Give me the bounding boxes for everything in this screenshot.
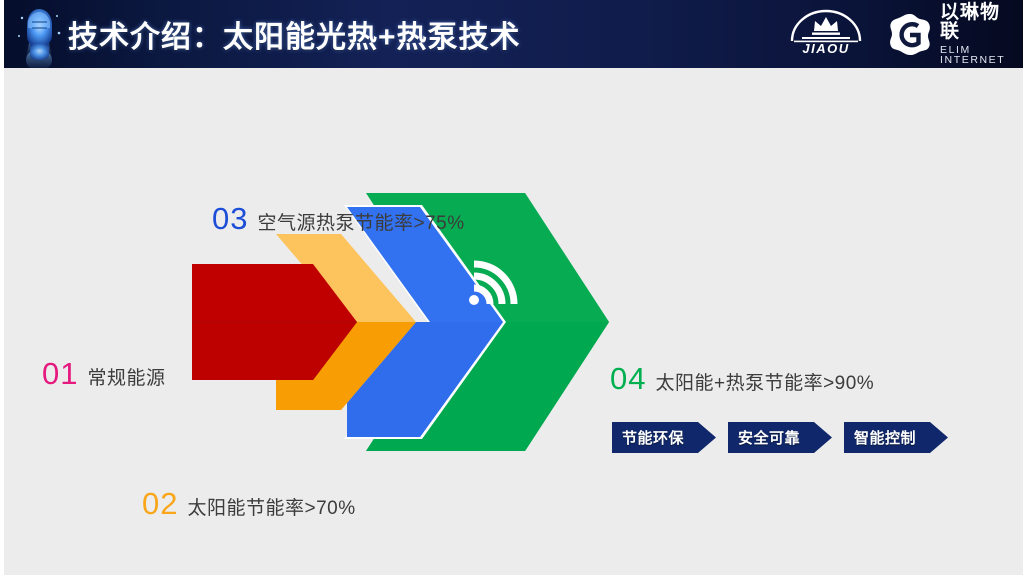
stage-text-03: 空气源热泵节能率>75% — [257, 208, 464, 235]
badge-label: 安全可靠 — [728, 427, 800, 448]
badge-label: 智能控制 — [844, 427, 916, 448]
logo-jiaou: JIAOU — [784, 7, 868, 61]
stage-text-01: 常规能源 — [87, 363, 165, 390]
stage-label-04: 04 太阳能+热泵节能率>90% — [610, 361, 874, 397]
stage-number-03: 03 — [212, 201, 248, 237]
logo-elim-name-en: ELIM INTERNET — [940, 45, 1016, 66]
badge-safe-reliable[interactable]: 安全可靠 — [728, 422, 832, 453]
stage-number-02: 02 — [142, 486, 178, 522]
stage-text-04: 太阳能+热泵节能率>90% — [655, 368, 874, 395]
stage-number-01: 01 — [42, 356, 78, 392]
slide-canvas: 技术介绍：太阳能光热+热泵技术 JIAOU — [0, 0, 1027, 579]
raised-fist-icon — [6, 0, 72, 68]
badge-label: 节能环保 — [612, 427, 684, 448]
stage-label-03: 03 空气源热泵节能率>75% — [212, 201, 465, 237]
page-title: 技术介绍：太阳能光热+热泵技术 — [68, 0, 521, 68]
stage-text-02: 太阳能节能率>70% — [187, 493, 355, 520]
badge-energy-saving[interactable]: 节能环保 — [612, 422, 716, 453]
logo-jiaou-wordmark: JIAOU — [784, 41, 868, 56]
logo-elim-name-cn: 以琳物联 — [940, 3, 1016, 41]
stage-number-04: 04 — [610, 361, 646, 397]
sunrise-arc-icon — [784, 7, 868, 43]
slide-header: 技术介绍：太阳能光热+热泵技术 JIAOU — [0, 0, 1027, 68]
feature-badge-group: 节能环保 安全可靠 智能控制 — [612, 422, 948, 453]
process-diagram: 01 常规能源 02 太阳能节能率>70% 03 空气源热泵节能率>75% 04… — [4, 68, 1027, 575]
stage-label-02: 02 太阳能节能率>70% — [142, 486, 356, 522]
g-hexagon-icon — [888, 12, 932, 56]
badge-smart-control[interactable]: 智能控制 — [844, 422, 948, 453]
logo-elim: 以琳物联 ELIM INTERNET — [888, 9, 1016, 59]
stage-label-01: 01 常规能源 — [42, 356, 166, 392]
